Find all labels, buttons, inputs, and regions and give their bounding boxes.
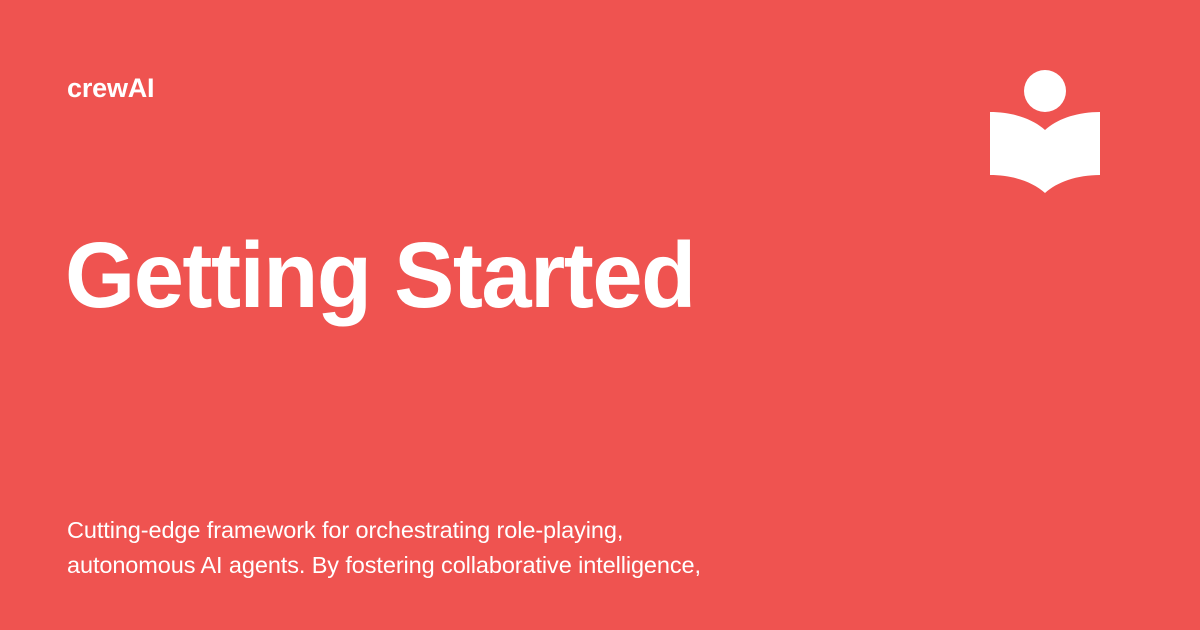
description-line-1: Cutting-edge framework for orchestrating…	[67, 513, 967, 548]
description-line-2: autonomous AI agents. By fostering colla…	[67, 548, 967, 583]
reader-head-circle	[1024, 70, 1066, 112]
open-book-shape	[990, 112, 1100, 193]
description-block: Cutting-edge framework for orchestrating…	[67, 513, 967, 583]
open-book-reader-glyph	[985, 62, 1105, 202]
og-preview-card: crewAI Getting Started Cutting-edge fram…	[0, 0, 1200, 630]
brand-label: crewAI	[67, 71, 154, 105]
page-title: Getting Started	[65, 225, 695, 325]
open-book-reader-icon	[985, 62, 1105, 202]
